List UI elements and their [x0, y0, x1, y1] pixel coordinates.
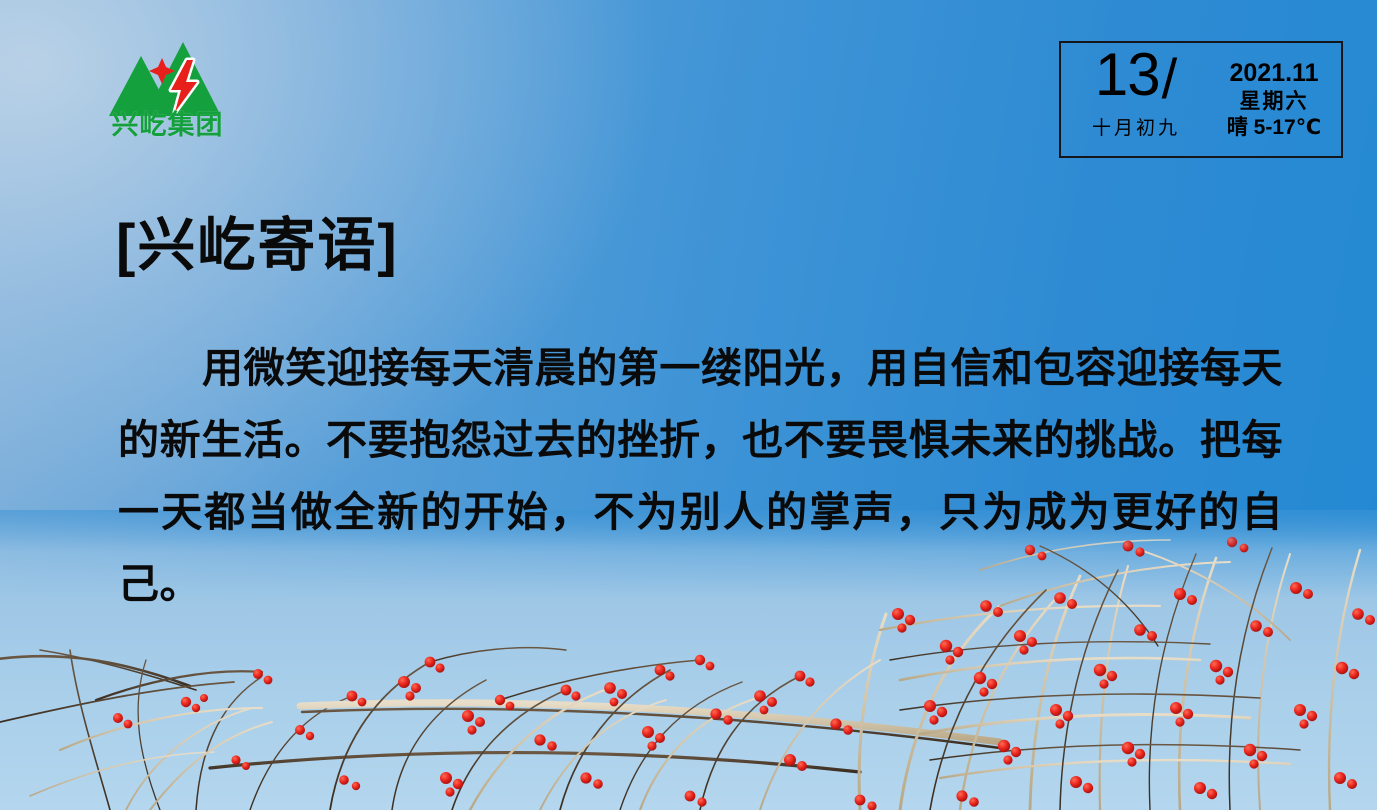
date-card: 13 / 十月初九 2021.11 星期六 晴 5-17℃ [1059, 41, 1343, 158]
weekday: 星期六 [1240, 91, 1309, 113]
day-number: 13 [1095, 45, 1160, 105]
day-slash: / [1162, 51, 1178, 107]
mountain-logo-mark [105, 38, 230, 118]
lunar-date: 十月初九 [1092, 113, 1180, 140]
logo-company-name: 兴屹集团 [105, 112, 230, 139]
date-card-right: 2021.11 星期六 晴 5-17℃ [1211, 43, 1341, 156]
body-paragraph: 用微笑迎接每天清晨的第一缕阳光，用自信和包容迎接每天的新生活。不要抱怨过去的挫折… [118, 332, 1283, 620]
day-row: 13 / [1095, 45, 1177, 105]
year-month: 2021.11 [1230, 60, 1319, 86]
weather-info: 晴 5-17℃ [1227, 117, 1321, 139]
date-card-left: 13 / 十月初九 [1061, 43, 1211, 156]
daily-greeting-poster: 兴屹集团 13 / 十月初九 2021.11 星期六 晴 5-17℃ [兴屹寄语… [0, 0, 1377, 810]
page-title: [兴屹寄语] [116, 214, 399, 278]
company-logo: 兴屹集团 [105, 38, 230, 156]
